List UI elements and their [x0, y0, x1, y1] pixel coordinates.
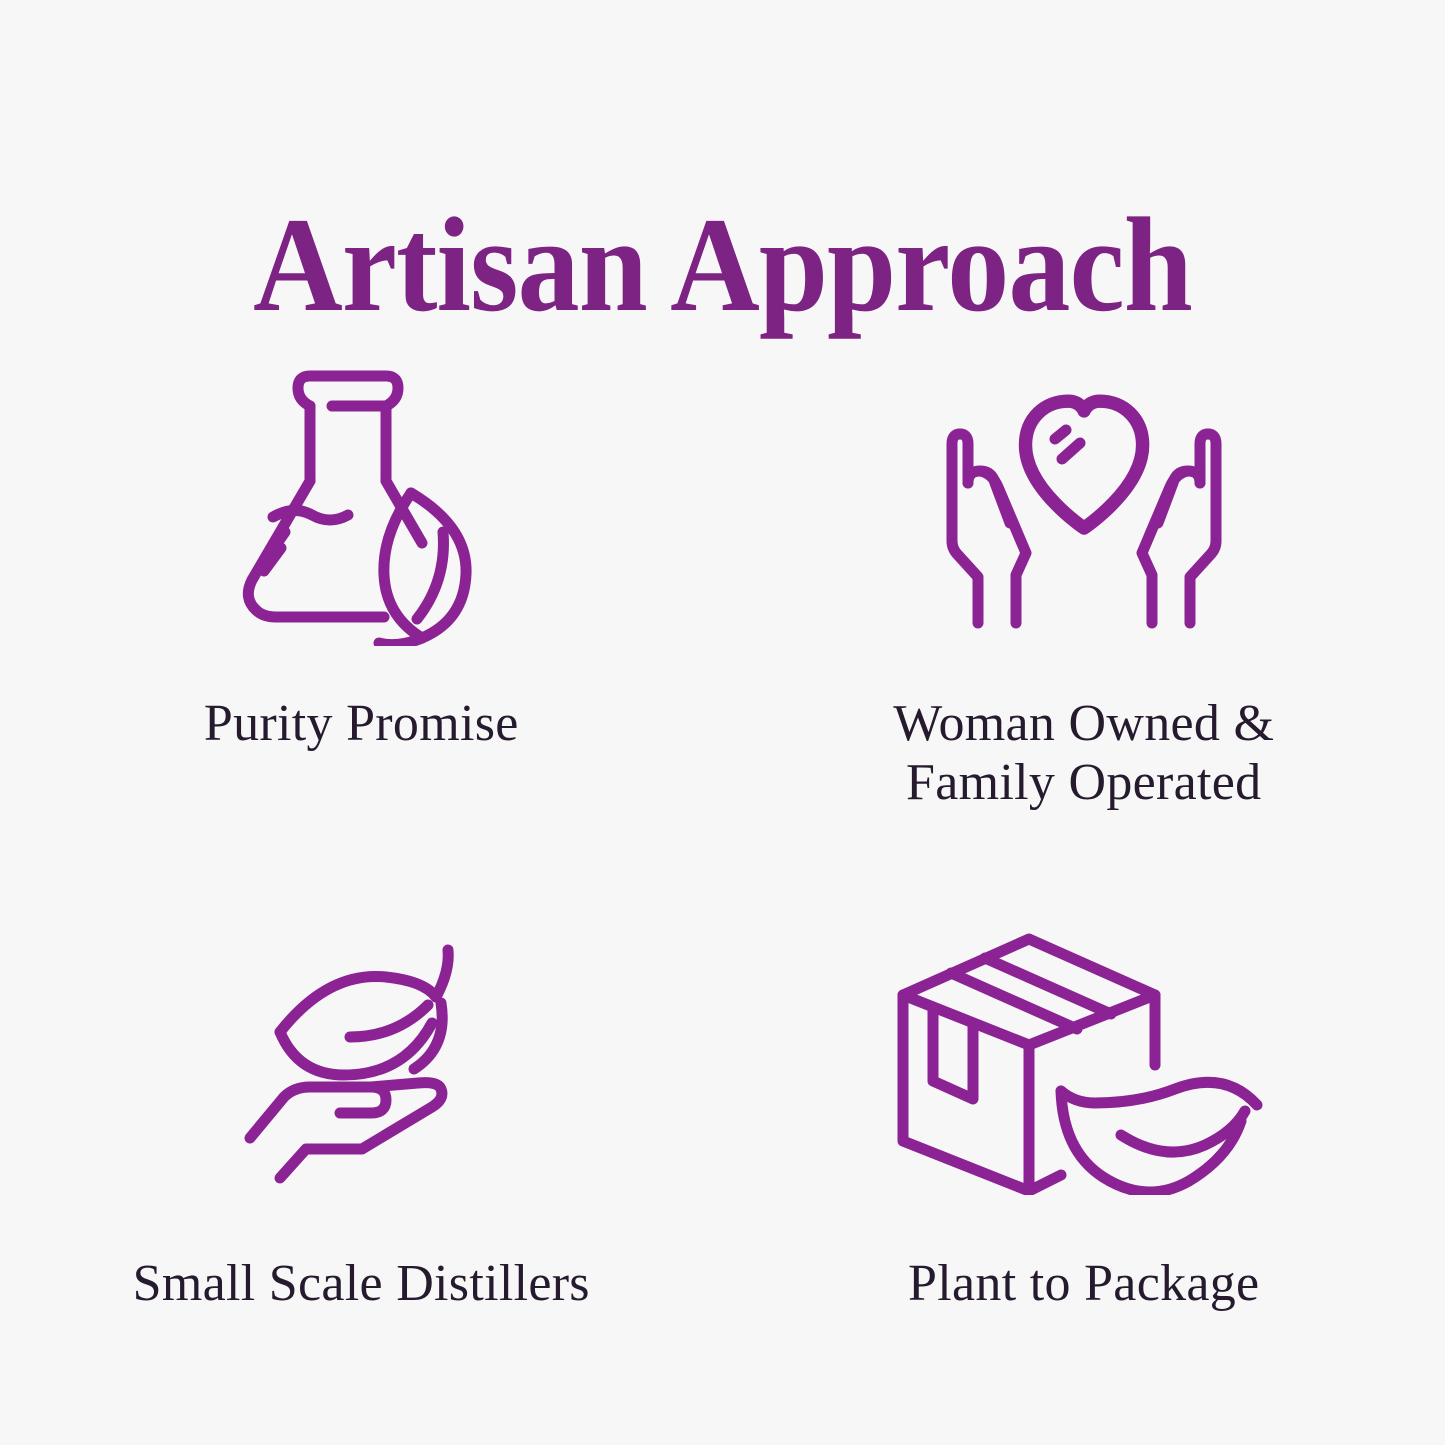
feature-label: Plant to Package [908, 1254, 1259, 1313]
feature-item-woman-owned: Woman Owned & Family Operated [723, 330, 1445, 860]
feature-label: Purity Promise [204, 694, 519, 753]
hand-leaf-icon [0, 860, 723, 1210]
feature-label: Woman Owned & Family Operated [893, 694, 1274, 813]
feature-item-plant-to-package: Plant to Package [723, 860, 1445, 1390]
hands-heart-icon [723, 330, 1445, 656]
feature-item-small-scale-distillers: Small Scale Distillers [0, 860, 723, 1390]
flask-leaf-icon [0, 330, 723, 656]
feature-item-purity-promise: Purity Promise [0, 330, 723, 860]
feature-label: Small Scale Distillers [133, 1254, 590, 1313]
artisan-approach-panel: Artisan Approach [0, 0, 1445, 1445]
page-title: Artisan Approach [58, 198, 1387, 333]
feature-grid: Purity Promise [0, 330, 1445, 1390]
box-leaf-icon [723, 860, 1445, 1210]
